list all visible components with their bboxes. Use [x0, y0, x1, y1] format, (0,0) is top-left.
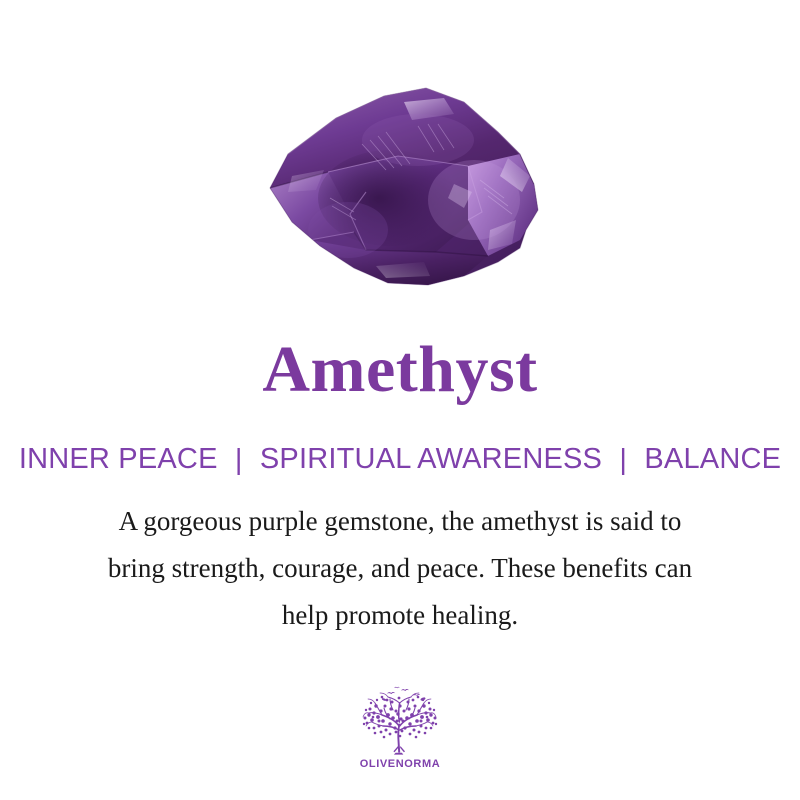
keyword-balance: BALANCE	[644, 443, 781, 475]
description-line: help promote healing.	[50, 592, 750, 639]
brand-logo: OLIVENORMA	[0, 686, 800, 770]
description-text: A gorgeous purple gemstone, the amethyst…	[50, 498, 750, 639]
amethyst-crystal-image	[258, 80, 548, 295]
keyword-spiritual-awareness: SPIRITUAL AWARENESS	[260, 443, 602, 475]
keyword-separator: |	[610, 443, 636, 477]
keyword-separator: |	[226, 443, 252, 477]
description-line: A gorgeous purple gemstone, the amethyst…	[50, 498, 750, 545]
hero-section	[0, 70, 800, 310]
keyword-inner-peace: INNER PEACE	[19, 443, 218, 475]
amethyst-crystal-svg	[258, 80, 548, 295]
description-line: bring strength, courage, and peace. Thes…	[50, 545, 750, 592]
keyword-strip: INNER PEACE | SPIRITUAL AWARENESS | BALA…	[0, 442, 800, 476]
amethyst-info-card: Amethyst INNER PEACE | SPIRITUAL AWARENE…	[0, 0, 800, 800]
brand-name: OLIVENORMA	[360, 758, 441, 770]
tree-of-life-icon	[357, 686, 443, 756]
page-title: Amethyst	[0, 333, 800, 407]
